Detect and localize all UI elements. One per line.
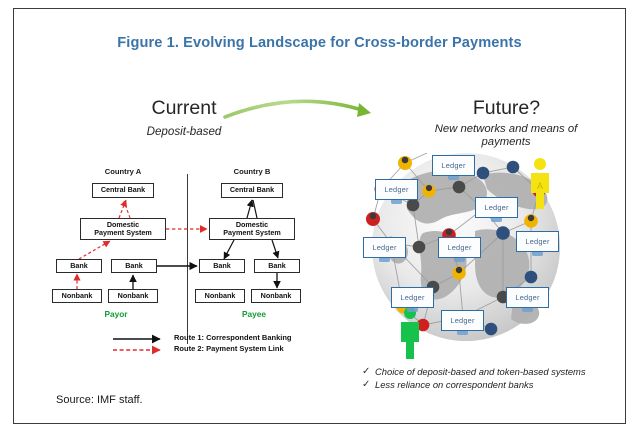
future-subheading-line1: New networks and means of (435, 123, 578, 135)
node-b-nonbank-left: Nonbank (195, 289, 245, 303)
ledger-box: Ledger (441, 310, 484, 331)
current-system-diagram: Country A Country B (44, 169, 334, 359)
ledger-box: Ledger (391, 287, 434, 308)
node-b-domestic-payment-system: Domestic Payment System (209, 218, 295, 240)
future-subheading: New networks and means of payments (406, 123, 606, 150)
ledger-box: Ledger (432, 155, 475, 176)
current-subheading: Deposit-based (99, 125, 269, 138)
future-network-illustration: A Ledger Ledger Ledger Ledger Ledger Led… (363, 147, 593, 359)
list-item: ✓ Choice of deposit-based and token-base… (362, 366, 632, 379)
node-a-domestic-payment-system: Domestic Payment System (80, 218, 166, 240)
legend-label-route2: Route 2: Payment System Link (174, 344, 284, 353)
check-icon: ✓ (362, 366, 370, 377)
node-a-bank-left: Bank (56, 259, 102, 273)
transition-arrow-icon (219, 87, 379, 121)
ledger-stand-icon (454, 258, 465, 262)
bullet-text: Choice of deposit-based and token-based … (375, 366, 586, 377)
node-a-nonbank-right: Nonbank (108, 289, 158, 303)
bullet-text: Less reliance on correspondent banks (375, 379, 533, 390)
list-item: ✓ Less reliance on correspondent banks (362, 379, 632, 392)
legend-label-route1: Route 1: Correspondent Banking (174, 333, 292, 342)
node-a-central-bank: Central Bank (92, 183, 154, 198)
payor-label: Payor (86, 309, 146, 319)
node-a-nonbank-left: Nonbank (52, 289, 102, 303)
ledger-box: Ledger (363, 237, 406, 258)
node-b-nonbank-right: Nonbank (251, 289, 301, 303)
ledger-stand-icon (532, 252, 543, 256)
ledger-stand-icon (407, 308, 418, 312)
ledger-stand-icon (379, 258, 390, 262)
ledger-box: Ledger (506, 287, 549, 308)
node-b-bank-left: Bank (199, 259, 245, 273)
ledger-stand-icon (391, 200, 402, 204)
ledger-stand-icon (491, 218, 502, 222)
ledger-box: Ledger (516, 231, 559, 252)
ledger-stand-icon (522, 308, 533, 312)
svg-text:A: A (537, 181, 543, 191)
figure-title: Figure 1. Evolving Landscape for Cross-b… (14, 35, 625, 51)
source-note: Source: IMF staff. (56, 394, 143, 406)
check-icon: ✓ (362, 379, 370, 390)
ledger-box: Ledger (438, 237, 481, 258)
route-legend: Route 1: Correspondent Banking Route 2: … (112, 333, 352, 363)
future-heading: Future? (414, 97, 599, 120)
ledger-box: Ledger (475, 197, 518, 218)
ledger-box: Ledger (375, 179, 418, 200)
payee-label: Payee (224, 309, 284, 319)
future-benefits-list: ✓ Choice of deposit-based and token-base… (362, 366, 632, 392)
node-b-central-bank: Central Bank (221, 183, 283, 198)
ledger-stand-icon (448, 176, 459, 180)
figure-frame: Figure 1. Evolving Landscape for Cross-b… (13, 8, 626, 424)
dashed-arrow-icon (112, 345, 170, 355)
ledger-stand-icon (457, 331, 468, 335)
solid-arrow-icon (112, 334, 170, 344)
node-a-bank-right: Bank (111, 259, 157, 273)
node-b-bank-right: Bank (254, 259, 300, 273)
